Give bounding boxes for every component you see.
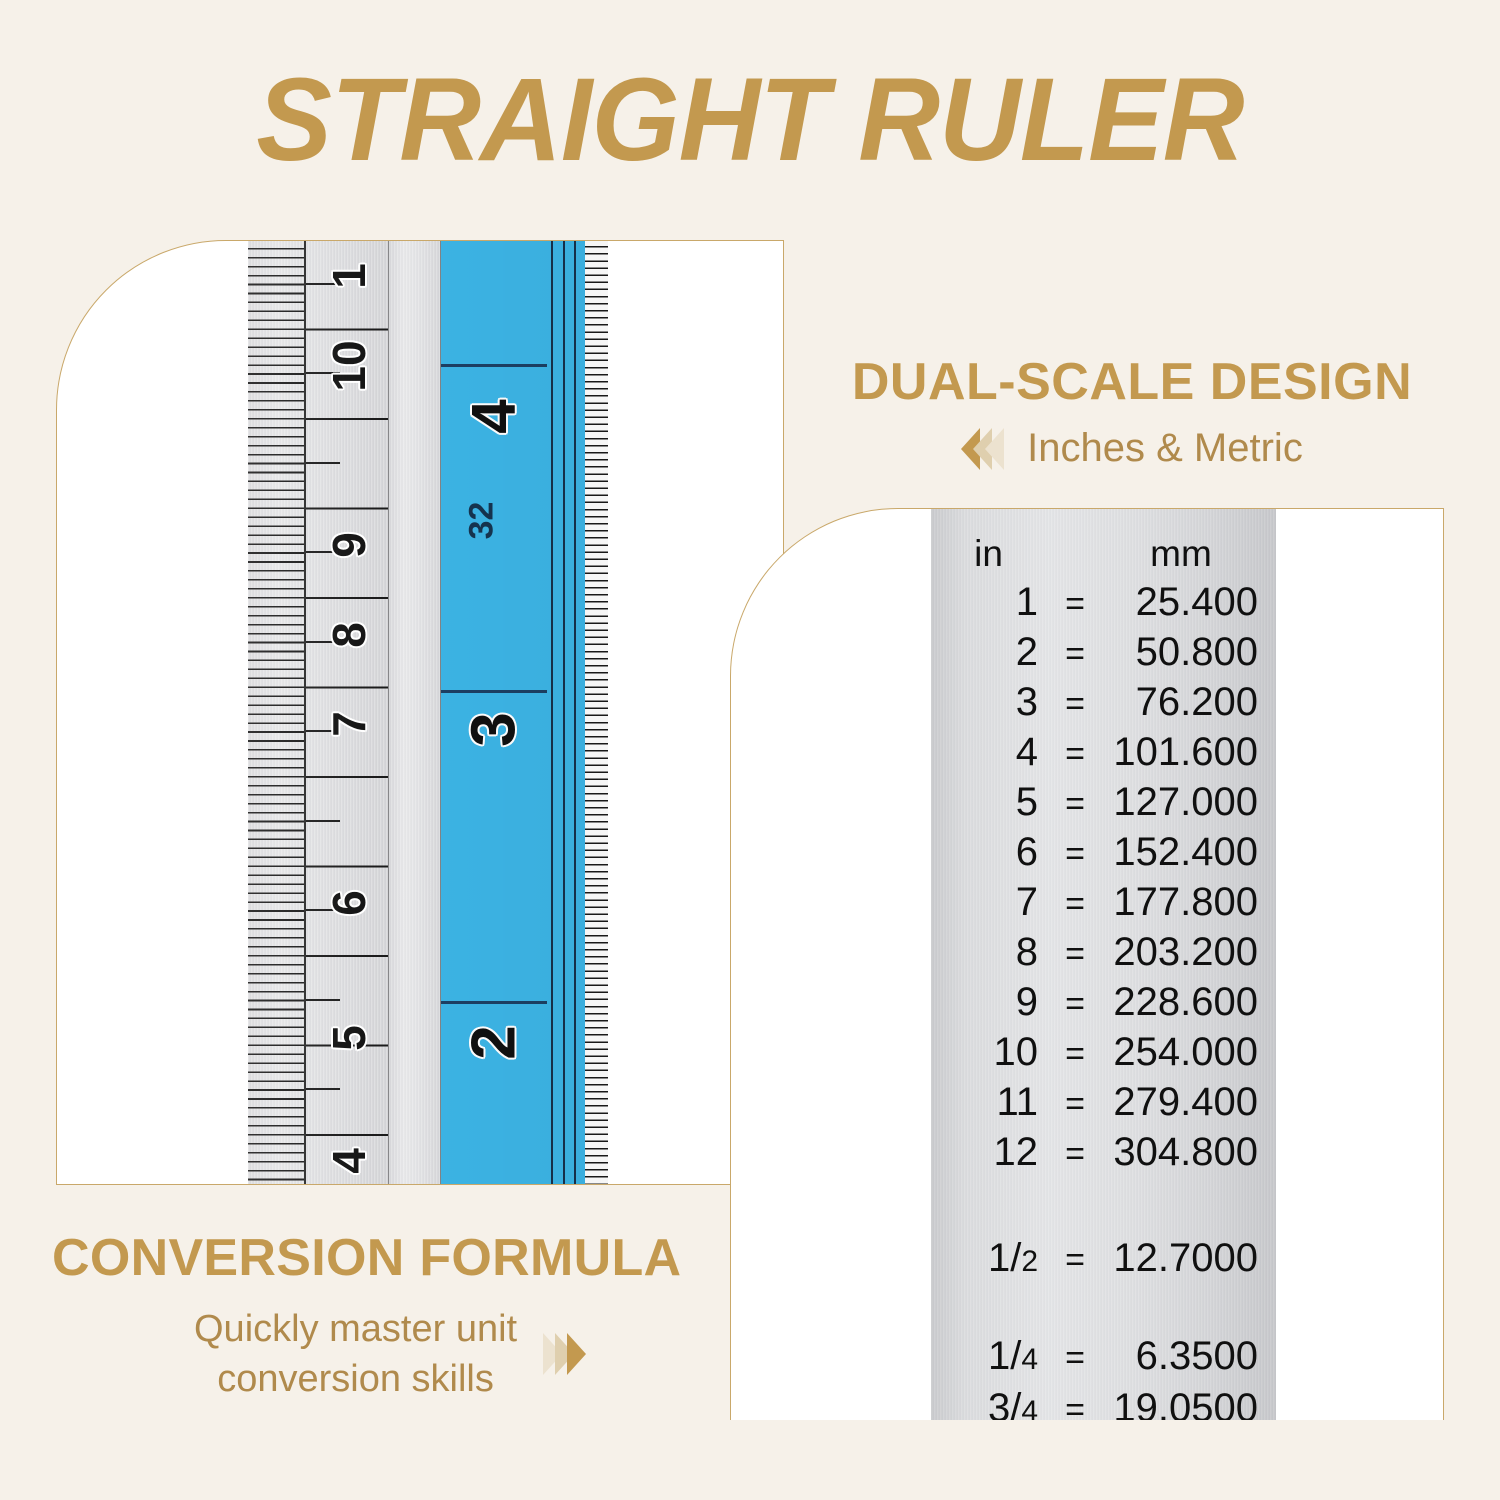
cell-in: 1/2 — [931, 1237, 1046, 1283]
cell-in: 2 — [931, 631, 1046, 673]
chevron-left-group — [961, 428, 997, 470]
ruler-photo-frame: 1 10 9 8 7 6 5 4 4 3 2 32 — [56, 240, 784, 1185]
cell-mm: 152.400 — [1104, 831, 1276, 873]
metric-number: 6 — [322, 868, 376, 938]
inch-separator-line — [441, 364, 547, 367]
cell-equals: = — [1046, 983, 1104, 1025]
table-row: 12 = 304.800 — [931, 1131, 1276, 1175]
half-cm-tick — [306, 1088, 340, 1090]
cell-in: 3 — [931, 681, 1046, 723]
cell-equals: = — [1046, 783, 1104, 825]
table-row: 11 = 279.400 — [931, 1081, 1276, 1125]
cell-in: 1 — [931, 581, 1046, 623]
steel-plate-background: in mm 1 = 25.400 2 = 50.800 3 = 76.200 — [931, 509, 1276, 1420]
dual-scale-subtitle: Inches & Metric — [1027, 426, 1303, 471]
column-header-in: in — [931, 533, 1046, 575]
conversion-table-frame: in mm 1 = 25.400 2 = 50.800 3 = 76.200 — [730, 508, 1444, 1420]
cell-equals: = — [1046, 883, 1104, 925]
table-row: 2 = 50.800 — [931, 631, 1276, 675]
table-row: 6 = 152.400 — [931, 831, 1276, 875]
cell-equals: = — [1046, 1033, 1104, 1075]
millimeter-tick-marks — [248, 240, 306, 1185]
cell-mm: 203.200 — [1104, 931, 1276, 973]
inch-number: 3 — [459, 687, 530, 773]
half-cm-tick — [306, 462, 340, 464]
metric-number: 5 — [322, 1003, 376, 1073]
cell-mm: 12.7000 — [1104, 1237, 1276, 1279]
half-cm-tick — [306, 999, 340, 1001]
cell-equals: = — [1046, 1389, 1104, 1420]
cell-mm: 254.000 — [1104, 1031, 1276, 1073]
metric-number: 10 — [322, 331, 376, 401]
column-header-mm: mm — [1104, 533, 1276, 575]
metric-number: 7 — [322, 689, 376, 759]
cell-mm: 228.600 — [1104, 981, 1276, 1023]
cell-in: 7 — [931, 881, 1046, 923]
inch-number: 4 — [459, 374, 530, 460]
rail-line — [563, 240, 565, 1185]
table-row: 8 = 203.200 — [931, 931, 1276, 975]
conversion-subtitle-line1: Quickly master unit — [194, 1304, 517, 1354]
table-row: 10 = 254.000 — [931, 1031, 1276, 1075]
cell-equals: = — [1046, 1133, 1104, 1175]
section-spacer — [931, 1283, 1276, 1329]
cell-equals: = — [1046, 1239, 1104, 1281]
metric-scale-face: 1 10 9 8 7 6 5 4 — [248, 240, 388, 1185]
inch-number: 2 — [459, 1000, 530, 1086]
table-row: 3/4 = 19.0500 — [931, 1387, 1276, 1420]
ruler-product-photo: 1 10 9 8 7 6 5 4 4 3 2 32 — [248, 240, 608, 1185]
table-row: 3 = 76.200 — [931, 681, 1276, 725]
inch-scale-rails — [547, 240, 585, 1185]
cell-mm: 127.000 — [1104, 781, 1276, 823]
table-row: 9 = 228.600 — [931, 981, 1276, 1025]
cell-mm: 19.0500 — [1104, 1387, 1276, 1420]
metric-number: 8 — [322, 600, 376, 670]
conversion-table: in mm 1 = 25.400 2 = 50.800 3 = 76.200 — [931, 509, 1276, 1420]
fraction-numerator: 3 — [988, 1386, 1010, 1420]
fraction-denominator: 2 — [1021, 1245, 1038, 1278]
table-row: 1/4 = 6.3500 — [931, 1335, 1276, 1381]
cell-in: 3/4 — [931, 1387, 1046, 1420]
dual-scale-feature-block: DUAL-SCALE DESIGN Inches & Metric — [812, 352, 1452, 471]
cell-in: 9 — [931, 981, 1046, 1023]
cell-mm: 177.800 — [1104, 881, 1276, 923]
table-row: 1/2 = 12.7000 — [931, 1237, 1276, 1283]
metric-number: 1 — [322, 241, 376, 311]
cell-in: 5 — [931, 781, 1046, 823]
table-row: 7 = 177.800 — [931, 881, 1276, 925]
cell-in: 1/4 — [931, 1335, 1046, 1381]
cell-equals: = — [1046, 1337, 1104, 1379]
cell-equals: = — [1046, 733, 1104, 775]
cell-mm: 101.600 — [1104, 731, 1276, 773]
fraction-denominator: 4 — [1021, 1343, 1038, 1376]
inch-scale-blue-band: 4 3 2 32 — [441, 240, 547, 1185]
conversion-subtitle-line2: conversion skills — [194, 1354, 517, 1404]
table-row: 1 = 25.400 — [931, 581, 1276, 625]
brushed-steel-gap — [388, 240, 441, 1185]
cell-in: 10 — [931, 1031, 1046, 1073]
cell-in: 8 — [931, 931, 1046, 973]
conversion-title: CONVERSION FORMULA — [52, 1228, 752, 1288]
conversion-subtitle-row: Quickly master unit conversion skills — [52, 1304, 752, 1404]
fraction-numerator: 1 — [988, 1334, 1010, 1378]
conversion-feature-block: CONVERSION FORMULA Quickly master unit c… — [52, 1228, 752, 1404]
table-row: 5 = 127.000 — [931, 781, 1276, 825]
cell-in: 4 — [931, 731, 1046, 773]
cell-mm: 76.200 — [1104, 681, 1276, 723]
cell-in: 6 — [931, 831, 1046, 873]
half-cm-tick — [306, 820, 340, 822]
rail-line — [574, 240, 576, 1185]
cell-equals: = — [1046, 583, 1104, 625]
cell-mm: 50.800 — [1104, 631, 1276, 673]
dual-scale-subtitle-row: Inches & Metric — [812, 426, 1452, 471]
cell-equals: = — [1046, 633, 1104, 675]
cell-in: 11 — [931, 1081, 1046, 1123]
chevron-right-group — [543, 1333, 579, 1375]
metric-number: 4 — [322, 1126, 376, 1185]
cell-equals: = — [1046, 833, 1104, 875]
fraction-denominator: 4 — [1021, 1395, 1038, 1420]
cell-mm: 6.3500 — [1104, 1335, 1276, 1377]
cell-in: 12 — [931, 1131, 1046, 1173]
cell-equals: = — [1046, 1083, 1104, 1125]
conversion-table-header: in mm — [931, 509, 1276, 575]
cell-equals: = — [1046, 933, 1104, 975]
cell-mm: 279.400 — [1104, 1081, 1276, 1123]
fraction-numerator: 1 — [988, 1236, 1010, 1280]
page-title: STRAIGHT RULER — [30, 52, 1470, 188]
chevron-left-icon — [985, 428, 1004, 470]
metric-number: 9 — [322, 510, 376, 580]
rail-line — [551, 240, 553, 1185]
cell-mm: 25.400 — [1104, 581, 1276, 623]
table-row: 4 = 101.600 — [931, 731, 1276, 775]
inch-fraction-denominator-label: 32 — [463, 484, 502, 558]
cell-equals: = — [1046, 683, 1104, 725]
cell-mm: 304.800 — [1104, 1131, 1276, 1173]
section-spacer — [931, 1175, 1276, 1231]
chevron-right-icon — [567, 1333, 586, 1375]
dual-scale-title: DUAL-SCALE DESIGN — [812, 352, 1452, 412]
conversion-subtitle: Quickly master unit conversion skills — [194, 1304, 517, 1404]
inch-graduation-ticks — [585, 240, 608, 1185]
